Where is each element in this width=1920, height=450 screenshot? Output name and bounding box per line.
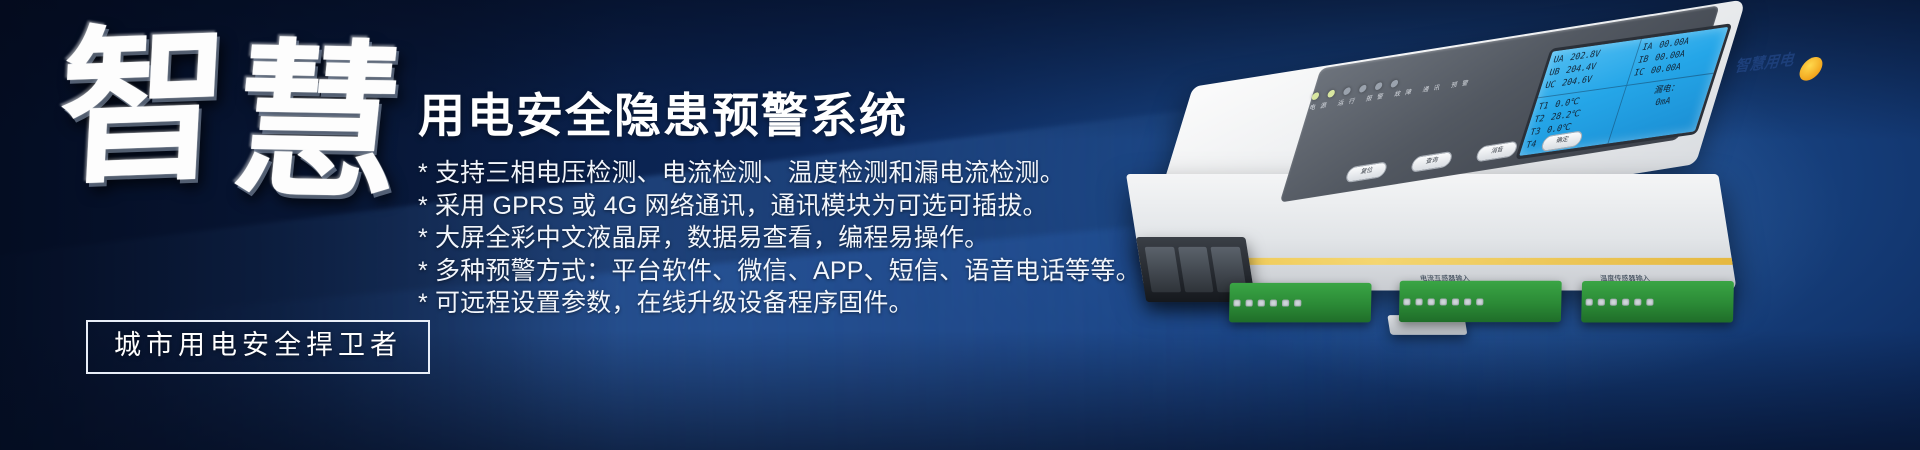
device-terminal-label: 电流互感器输入 xyxy=(1419,274,1470,284)
run-led-icon xyxy=(1327,89,1336,98)
calligraphy-logotype: 智慧 xyxy=(51,11,465,280)
feature-text: 可远程设置参数，在线升级设备程序固件。 xyxy=(435,289,914,317)
device-terminal-block xyxy=(1399,281,1562,322)
feature-item: *支持三相电压检测、电流检测、温度检测和漏电流检测。 xyxy=(418,157,1118,190)
feature-item: *可远程设置参数，在线升级设备程序固件。 xyxy=(418,287,1118,320)
headline: 用电安全隐患预警系统 xyxy=(418,88,1118,143)
feature-item: *采用 GPRS 或 4G 网络通讯，通讯模块为可选可插拔。 xyxy=(418,190,1118,223)
fault-led-icon xyxy=(1358,84,1367,93)
device-query-button[interactable]: 查询 xyxy=(1410,150,1454,172)
alarm-led-icon xyxy=(1343,86,1352,95)
bullet-marker-icon: * xyxy=(418,224,428,252)
copy-block: 用电安全隐患预警系统 *支持三相电压检测、电流检测、温度检测和漏电流检测。 *采… xyxy=(418,88,1118,320)
device-terminal-block xyxy=(1229,283,1372,323)
tagline-box: 城市用电安全捍卫者 xyxy=(86,320,430,374)
bullet-marker-icon: * xyxy=(418,192,428,220)
feature-text: 多种预警方式：平台软件、微信、APP、短信、语音电话等等。 xyxy=(435,257,1141,285)
calligraphy-char-2: 慧 xyxy=(225,36,416,207)
device-terminal-label: 温度传感器输入 xyxy=(1599,274,1650,284)
promo-banner: 智慧 城市用电安全捍卫者 用电安全隐患预警系统 *支持三相电压检测、电流检测、温… xyxy=(0,0,1920,450)
feature-item: *多种预警方式：平台软件、微信、APP、短信、语音电话等等。 xyxy=(418,255,1118,288)
feature-text: 支持三相电压检测、电流检测、温度检测和漏电流检测。 xyxy=(435,159,1065,187)
calligraphy-char-1: 智 xyxy=(55,4,240,208)
bullet-marker-icon: * xyxy=(418,159,428,187)
power-led-icon xyxy=(1311,91,1320,100)
comm-led-icon xyxy=(1374,81,1383,90)
warning-led-icon xyxy=(1390,79,1399,88)
feature-text: 大屏全彩中文液晶屏，数据易查看，编程易操作。 xyxy=(435,224,989,252)
bullet-marker-icon: * xyxy=(418,289,428,317)
product-device-image: 电源 运行 报警 故障 通讯 预警 UA202.8V UB204.4V UC20… xyxy=(1120,10,1910,430)
device-reset-button[interactable]: 复位 xyxy=(1344,161,1388,183)
bullet-marker-icon: * xyxy=(418,257,428,285)
device-mute-button[interactable]: 消音 xyxy=(1475,140,1519,162)
feature-item: *大屏全彩中文液晶屏，数据易查看，编程易操作。 xyxy=(418,222,1118,255)
device-terminal-block xyxy=(1581,281,1734,322)
feature-list: *支持三相电压检测、电流检测、温度检测和漏电流检测。 *采用 GPRS 或 4G… xyxy=(418,157,1118,320)
feature-text: 采用 GPRS 或 4G 网络通讯，通讯模块为可选可插拔。 xyxy=(435,192,1048,220)
tagline-text: 城市用电安全捍卫者 xyxy=(114,330,402,360)
device-confirm-button[interactable]: 确定 xyxy=(1540,130,1584,152)
